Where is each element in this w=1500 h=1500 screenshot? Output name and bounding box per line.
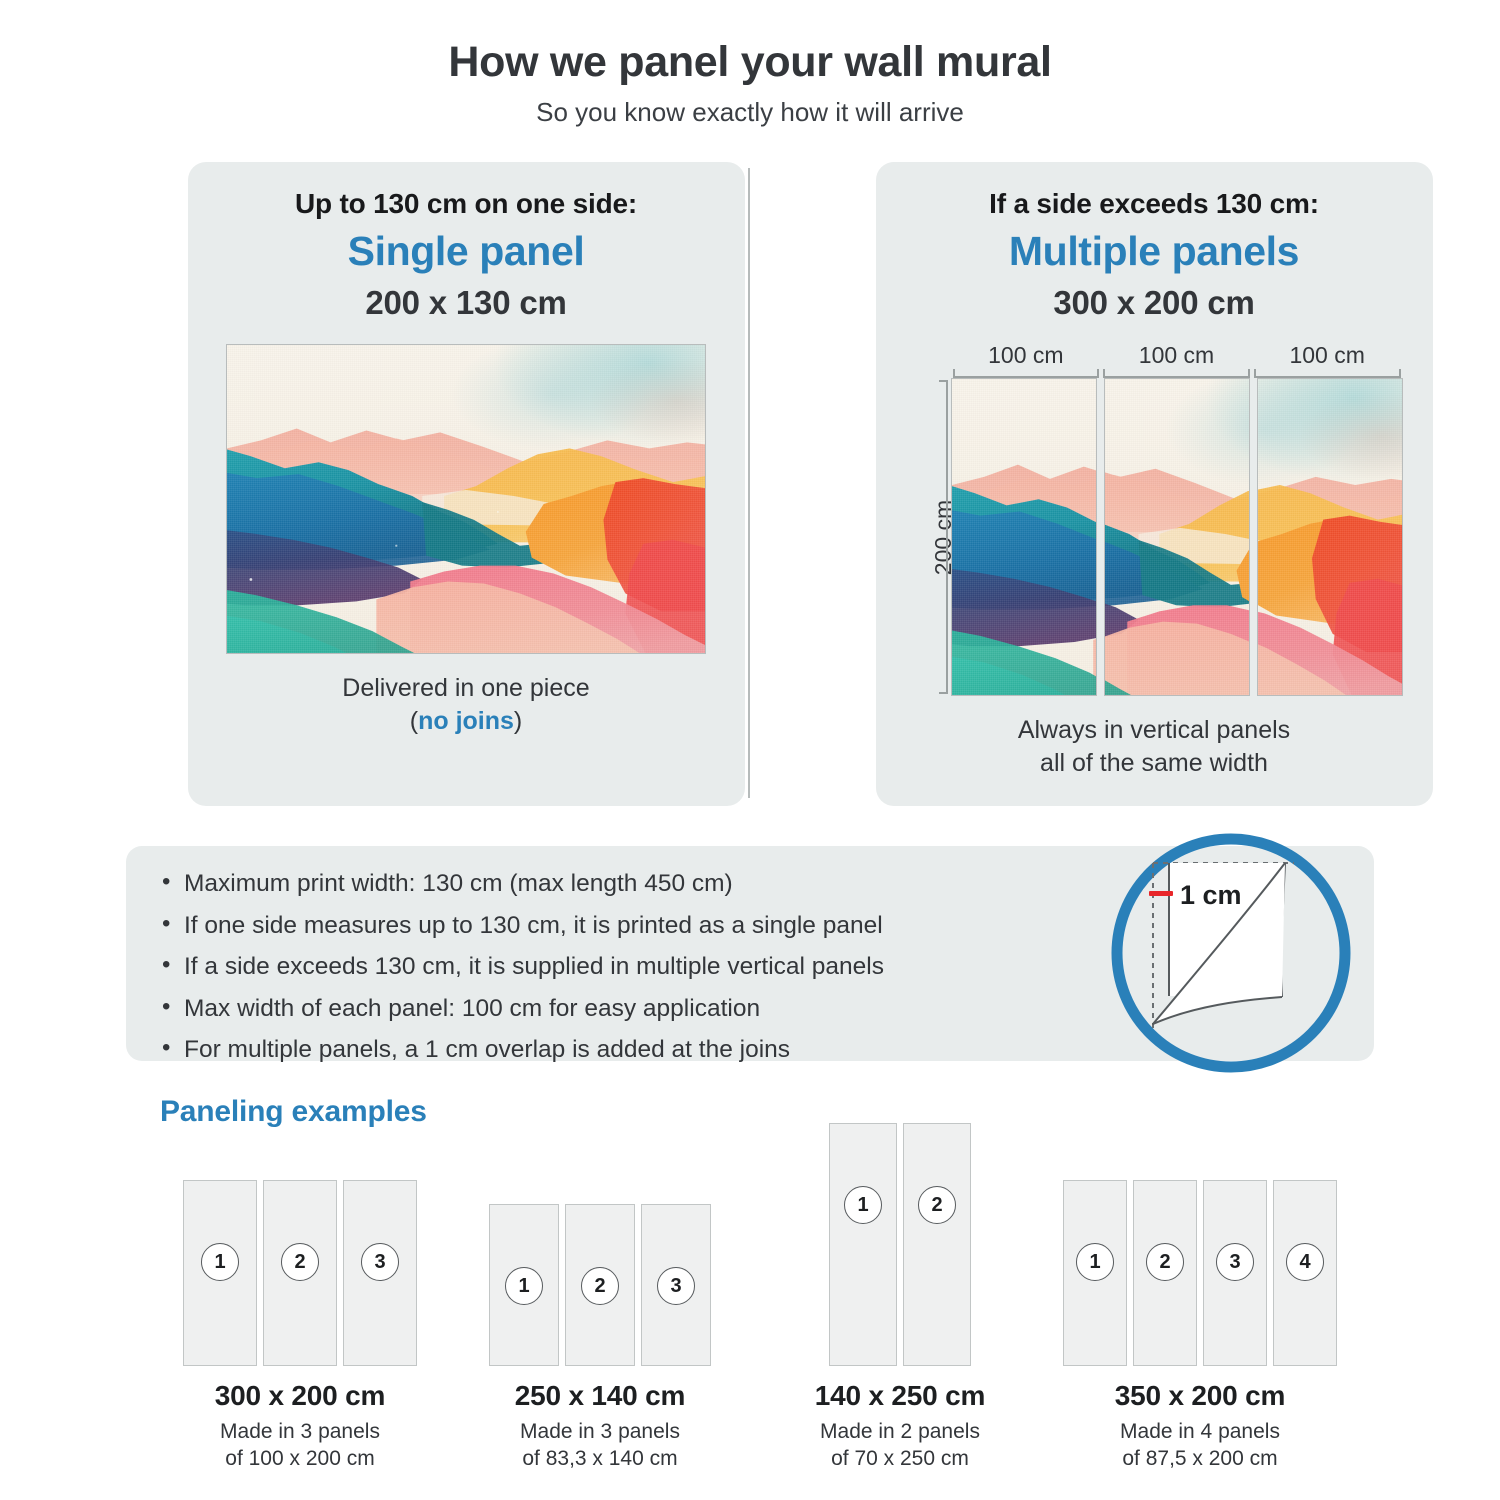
example-detail-line1: Made in 3 panels (520, 1420, 680, 1443)
panel-width-dimension: 100 cm (951, 344, 1102, 378)
panel-number-badge: 3 (657, 1267, 695, 1305)
panel-width-label-1: 100 cm (988, 344, 1063, 367)
dimension-bracket-vertical (939, 380, 948, 694)
example-size: 140 x 250 cm (815, 1380, 985, 1412)
single-panel-caption-line1: Delivered in one piece (342, 674, 589, 702)
single-panel-kicker: Up to 130 cm on one side: (295, 188, 637, 220)
cards-divider (748, 168, 750, 798)
single-panel-card: Up to 130 cm on one side: Single panel 2… (188, 162, 745, 806)
multiple-panels-caption: Always in vertical panels all of the sam… (1018, 714, 1290, 780)
example-panel: 1 (1063, 1180, 1127, 1366)
panel-strips (951, 378, 1403, 696)
single-panel-highlight: no joins (418, 707, 514, 735)
panel-strip (951, 378, 1097, 696)
example-detail-line1: Made in 2 panels (820, 1420, 980, 1443)
panel-width-label-3: 100 cm (1289, 344, 1364, 367)
example-panel: 2 (263, 1180, 337, 1366)
multiple-panels-kicker: If a side exceeds 130 cm: (989, 188, 1319, 220)
dimension-bracket (953, 369, 1100, 378)
mural-artwork-multi: 100 cm 100 cm 100 cm 200 cm (906, 344, 1403, 696)
dimension-bracket (1103, 369, 1250, 378)
example-panel: 3 (343, 1180, 417, 1366)
example-panel: 2 (903, 1123, 971, 1366)
panel-width-label-2: 100 cm (1139, 344, 1214, 367)
example-detail: Made in 4 panels of 87,5 x 200 cm (1120, 1419, 1280, 1473)
page-header: How we panel your wall mural So you know… (0, 0, 1500, 128)
page-title: How we panel your wall mural (0, 38, 1500, 87)
panel-artwork-slice (1257, 379, 1403, 695)
panel-number-badge: 2 (1146, 1243, 1184, 1281)
panel-number-badge: 1 (201, 1243, 239, 1281)
example-panel: 1 (489, 1204, 559, 1366)
panel-number-badge: 3 (1216, 1243, 1254, 1281)
notes-section: Maximum print width: 130 cm (max length … (0, 846, 1500, 1061)
panel-artwork-slice (952, 379, 1097, 695)
example-detail: Made in 2 panels of 70 x 250 cm (820, 1419, 980, 1473)
multiple-panels-size: 300 x 200 cm (1053, 284, 1254, 322)
example-panel: 1 (183, 1180, 257, 1366)
example-diagram: 1 2 3 (489, 1116, 711, 1366)
panel-number-badge: 2 (581, 1267, 619, 1305)
panel-number-badge: 3 (361, 1243, 399, 1281)
example-detail-line2: of 100 x 200 cm (225, 1447, 374, 1470)
panel-number-badge: 2 (281, 1243, 319, 1281)
example-panel: 1 (829, 1123, 897, 1366)
single-panel-paren-close: ) (514, 707, 522, 735)
panel-number-badge: 1 (505, 1267, 543, 1305)
panel-artwork-slice (1104, 379, 1250, 695)
example-size: 250 x 140 cm (515, 1380, 685, 1412)
multiple-panels-caption-line1: Always in vertical panels (1018, 716, 1290, 744)
example-size: 350 x 200 cm (1115, 1380, 1285, 1412)
example-panel: 3 (1203, 1180, 1267, 1366)
example-300x200: 1 2 3 300 x 200 cm Made in 3 panels of 1… (150, 1116, 450, 1473)
notes-card: Maximum print width: 130 cm (max length … (126, 846, 1374, 1061)
comparison-cards: Up to 130 cm on one side: Single panel 2… (0, 162, 1500, 806)
example-diagram: 1 2 3 (183, 1116, 417, 1366)
artwork-mountains (952, 379, 1097, 695)
multiple-panels-mode: Multiple panels (1009, 228, 1299, 275)
overlap-label: 1 cm (1180, 880, 1242, 910)
example-140x250: 1 2 140 x 250 cm Made in 2 panels of 70 … (750, 1116, 1050, 1473)
single-panel-size: 200 x 130 cm (365, 284, 566, 322)
panel-number-badge: 1 (844, 1186, 882, 1224)
panel-number-badge: 4 (1286, 1243, 1324, 1281)
panel-height-dimension: 200 cm (906, 378, 948, 696)
panel-number-badge: 2 (918, 1186, 956, 1224)
paneling-examples: 1 2 3 300 x 200 cm Made in 3 panels of 1… (0, 1143, 1500, 1473)
single-panel-paren-open: ( (410, 707, 418, 735)
single-panel-caption: Delivered in one piece (no joins) (342, 672, 589, 738)
example-diagram: 1 2 (829, 1116, 971, 1366)
example-diagram: 1 2 3 4 (1063, 1116, 1337, 1366)
infographic-page: How we panel your wall mural So you know… (0, 0, 1500, 1500)
example-detail-line2: of 70 x 250 cm (831, 1447, 969, 1470)
example-detail: Made in 3 panels of 83,3 x 140 cm (520, 1419, 680, 1473)
example-panel: 2 (1133, 1180, 1197, 1366)
artwork-mountains (227, 345, 705, 653)
multiple-panels-caption-line2: all of the same width (1040, 749, 1268, 777)
example-350x200: 1 2 3 4 350 x 200 cm Made in 4 panels of… (1050, 1116, 1350, 1473)
panel-width-dimension: 100 cm (1101, 344, 1252, 378)
page-subtitle: So you know exactly how it will arrive (0, 97, 1500, 128)
example-panel: 2 (565, 1204, 635, 1366)
example-detail: Made in 3 panels of 100 x 200 cm (220, 1419, 380, 1473)
panel-strip (1104, 378, 1250, 696)
example-panel: 3 (641, 1204, 711, 1366)
mural-artwork-single (226, 344, 706, 654)
multiple-panels-card: If a side exceeds 130 cm: Multiple panel… (876, 162, 1433, 806)
example-250x140: 1 2 3 250 x 140 cm Made in 3 panels of 8… (450, 1116, 750, 1473)
overlap-diagram: 1 cm (1102, 824, 1360, 1082)
example-detail-line1: Made in 3 panels (220, 1420, 380, 1443)
overlap-measure-marker (1149, 891, 1173, 896)
panel-width-dimension: 100 cm (1252, 344, 1403, 378)
panel-width-dimensions: 100 cm 100 cm 100 cm (951, 344, 1403, 378)
example-size: 300 x 200 cm (215, 1380, 385, 1412)
example-detail-line1: Made in 4 panels (1120, 1420, 1280, 1443)
artwork-mountains (1257, 379, 1403, 695)
artwork-mountains (1104, 379, 1250, 695)
example-detail-line2: of 83,3 x 140 cm (522, 1447, 677, 1470)
example-panel: 4 (1273, 1180, 1337, 1366)
single-panel-mode: Single panel (348, 228, 585, 275)
example-detail-line2: of 87,5 x 200 cm (1122, 1447, 1277, 1470)
panel-number-badge: 1 (1076, 1243, 1114, 1281)
panel-strip (1257, 378, 1403, 696)
dimension-bracket (1254, 369, 1401, 378)
